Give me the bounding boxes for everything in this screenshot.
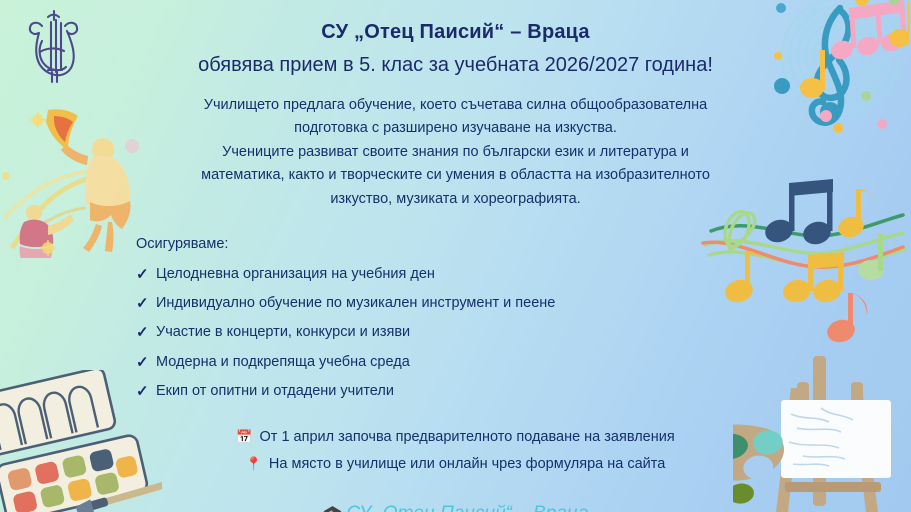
list-item: ✓ Участие в концерти, конкурси и изяви (136, 318, 911, 347)
graduation-cap-icon: 🎓 (322, 506, 342, 512)
list-item: ✓ Екип от опитни и отдадени учители (136, 377, 911, 406)
offerings-block: Осигуряваме: ✓ Целодневна организация на… (136, 233, 911, 406)
offerings-list: ✓ Целодневна организация на учебния ден … (136, 260, 911, 406)
tagline-school-name-text: СУ „Отец Паисий“ – Враца (346, 503, 588, 512)
paragraph-line: математика, както и творческите си умени… (151, 164, 761, 187)
checkmark-icon: ✓ (136, 289, 156, 318)
school-name-heading: СУ „Отец Паисий“ – Враца (0, 20, 911, 45)
checkmark-icon: ✓ (136, 377, 156, 406)
info-row-date: 📅 От 1 април започва предварителното под… (0, 424, 911, 451)
intro-paragraph: Училището предлага обучение, което съчет… (151, 94, 761, 211)
list-item: ✓ Модерна и подкрепяща учебна среда (136, 348, 911, 377)
info-row-date-text: От 1 април започва предварителното подав… (260, 429, 675, 445)
paragraph-line: Учениците развиват своите знания по бълг… (151, 141, 761, 164)
list-item-label: Индивидуално обучение по музикален инстр… (156, 289, 555, 317)
list-item-label: Участие в концерти, конкурси и изяви (156, 318, 410, 346)
application-info-block: 📅 От 1 април започва предварителното под… (0, 424, 911, 478)
info-row-location-text: На място в училище или онлайн чрез форму… (269, 456, 665, 472)
paragraph-line: Училището предлага обучение, което съчет… (151, 94, 761, 117)
info-row-location: 📍 На място в училище или онлайн чрез фор… (0, 451, 911, 478)
list-item-label: Екип от опитни и отдадени учители (156, 377, 394, 405)
list-item: ✓ Индивидуално обучение по музикален инс… (136, 289, 911, 318)
list-item-label: Целодневна организация на учебния ден (156, 260, 435, 288)
list-item: ✓ Целодневна организация на учебния ден (136, 260, 911, 289)
calendar-icon: 📅 (236, 429, 252, 444)
paragraph-line: подготовка с разширено изучаване на изку… (151, 117, 761, 140)
tagline-school-name: 🎓СУ „Отец Паисий“ – Враца (0, 500, 911, 512)
poster-content: СУ „Отец Паисий“ – Враца обявява прием в… (0, 0, 911, 512)
location-pin-icon: 📍 (246, 456, 262, 471)
checkmark-icon: ✓ (136, 260, 156, 289)
checkmark-icon: ✓ (136, 318, 156, 347)
paragraph-line: изкуство, музиката и хореографията. (151, 188, 761, 211)
offerings-label: Осигуряваме: (136, 233, 911, 255)
announcement-heading: обявява прием в 5. клас за учебната 2026… (0, 50, 911, 80)
admission-poster: СУ „Отец Паисий“ – Враца обявява прием в… (0, 0, 911, 512)
checkmark-icon: ✓ (136, 348, 156, 377)
list-item-label: Модерна и подкрепяща учебна среда (156, 348, 410, 376)
title-block: СУ „Отец Паисий“ – Враца обявява прием в… (0, 0, 911, 80)
tagline-block: 🎓СУ „Отец Паисий“ – Враца 40 години чрез… (0, 500, 911, 512)
